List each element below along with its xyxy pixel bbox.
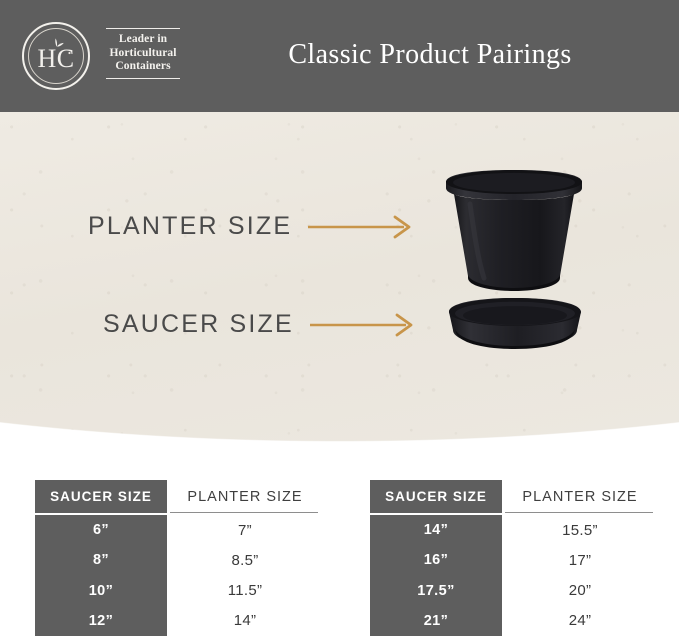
arrow-right-icon bbox=[308, 215, 414, 239]
planter-pot-image bbox=[440, 168, 590, 293]
arrow-right-icon bbox=[310, 313, 416, 337]
table-header-row: SAUCER SIZE PLANTER SIZE bbox=[370, 480, 658, 513]
table-row: 6” 7” bbox=[35, 515, 323, 545]
brand-logo: HC Leader in Horticultural Containers bbox=[22, 22, 187, 92]
table-header-row: SAUCER SIZE PLANTER SIZE bbox=[35, 480, 323, 513]
column-header-planter-size: PLANTER SIZE bbox=[505, 480, 655, 513]
cell-saucer-size: 17.5” bbox=[370, 583, 502, 599]
cell-planter-size: 7” bbox=[170, 522, 320, 539]
registered-mark-icon bbox=[68, 52, 70, 54]
pairing-table-right: SAUCER SIZE PLANTER SIZE 14” 15.5” 16” 1… bbox=[370, 480, 658, 636]
saucer-dish-image bbox=[445, 296, 585, 352]
cell-planter-size: 15.5” bbox=[505, 522, 655, 539]
header-band: HC Leader in Horticultural Containers Cl… bbox=[0, 0, 679, 112]
callout-saucer-label: SAUCER SIZE bbox=[103, 310, 294, 339]
table-row: 21” 24” bbox=[370, 606, 658, 636]
cell-planter-size: 17” bbox=[505, 552, 655, 569]
cell-saucer-size: 10” bbox=[35, 583, 167, 599]
brand-tagline: Leader in Horticultural Containers bbox=[100, 28, 186, 79]
table-row: 16” 17” bbox=[370, 545, 658, 575]
cell-planter-size: 20” bbox=[505, 582, 655, 599]
cell-saucer-size: 8” bbox=[35, 552, 167, 568]
table-body: 14” 15.5” 16” 17” 17.5” 20” 21” 24” bbox=[370, 513, 658, 636]
cell-planter-size: 24” bbox=[505, 612, 655, 629]
hc-monogram-icon: HC bbox=[22, 22, 90, 90]
column-header-saucer-size: SAUCER SIZE bbox=[370, 480, 502, 513]
tagline-line-3: Containers bbox=[100, 60, 186, 74]
table-row: 14” 15.5” bbox=[370, 515, 658, 545]
callout-planter-label: PLANTER SIZE bbox=[88, 212, 292, 241]
infographic-root: HC Leader in Horticultural Containers Cl… bbox=[0, 0, 679, 636]
cell-planter-size: 11.5” bbox=[170, 582, 320, 599]
table-row: 17.5” 20” bbox=[370, 576, 658, 606]
cell-planter-size: 8.5” bbox=[170, 552, 320, 569]
tagline-rule-top bbox=[106, 28, 180, 29]
tagline-line-1: Leader in bbox=[100, 33, 186, 47]
table-row: 10” 11.5” bbox=[35, 576, 323, 606]
pairing-table-left: SAUCER SIZE PLANTER SIZE 6” 7” 8” 8.5” 1… bbox=[35, 480, 323, 636]
cell-saucer-size: 21” bbox=[370, 613, 502, 629]
table-body: 6” 7” 8” 8.5” 10” 11.5” 12” 14” bbox=[35, 513, 323, 636]
cell-planter-size: 14” bbox=[170, 612, 320, 629]
cell-saucer-size: 6” bbox=[35, 522, 167, 538]
cell-saucer-size: 14” bbox=[370, 522, 502, 538]
callout-planter-size: PLANTER SIZE bbox=[88, 212, 414, 241]
callout-saucer-size: SAUCER SIZE bbox=[103, 310, 416, 339]
table-row: 12” 14” bbox=[35, 606, 323, 636]
cell-saucer-size: 16” bbox=[370, 552, 502, 568]
tagline-rule-bottom bbox=[106, 78, 180, 79]
page-title: Classic Product Pairings bbox=[200, 38, 660, 72]
tagline-line-2: Horticultural bbox=[100, 47, 186, 61]
column-header-planter-size: PLANTER SIZE bbox=[170, 480, 320, 513]
svg-text:HC: HC bbox=[37, 44, 74, 73]
column-header-saucer-size: SAUCER SIZE bbox=[35, 480, 167, 513]
cell-saucer-size: 12” bbox=[35, 613, 167, 629]
table-row: 8” 8.5” bbox=[35, 545, 323, 575]
